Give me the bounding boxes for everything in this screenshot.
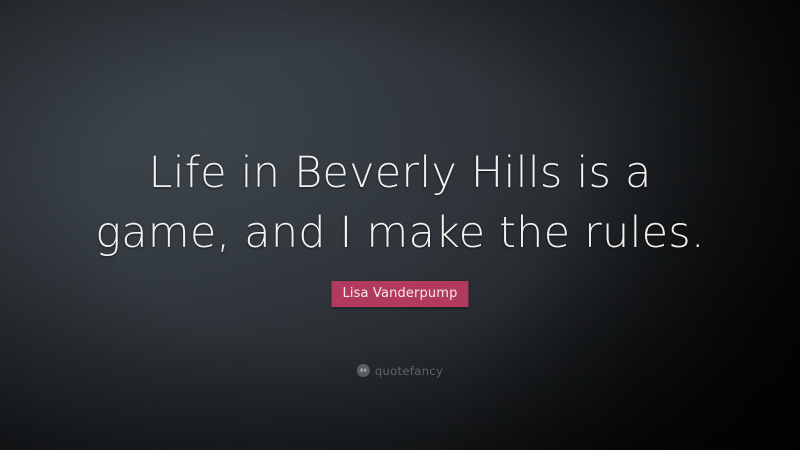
content-container: Life in Beverly Hills is a game, and I m… [0, 0, 800, 450]
quote-text: Life in Beverly Hills is a game, and I m… [0, 143, 800, 263]
quote-image-canvas: Life in Beverly Hills is a game, and I m… [0, 0, 800, 450]
quote-line-2: game, and I make the rules. [60, 203, 740, 263]
watermark[interactable]: quotefancy [357, 364, 443, 377]
quote-mark-circle-icon [357, 364, 370, 377]
author-badge: Lisa Vanderpump [331, 281, 468, 307]
quote-line-1: Life in Beverly Hills is a [60, 143, 740, 203]
watermark-brand-label: quotefancy [375, 365, 443, 377]
